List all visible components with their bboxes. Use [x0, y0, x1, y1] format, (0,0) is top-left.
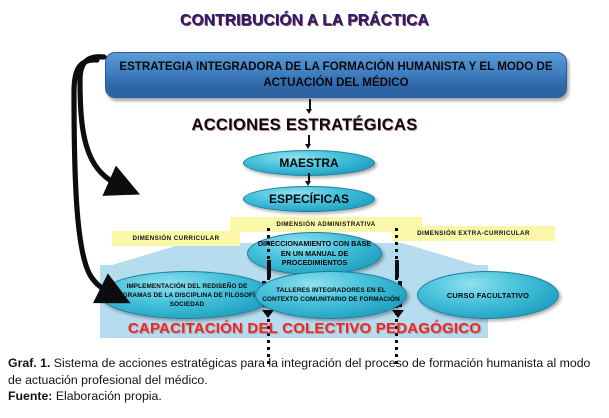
curved-arrow-lower — [74, 60, 112, 294]
caption-graf-text: Sistema de acciones estratégicas para la… — [8, 356, 590, 387]
node-direccionamiento-label: DIRECCIONAMIENTO CON BASE EN UN MANUAL D… — [253, 239, 375, 268]
arrow-mainbox-to-acciones — [305, 99, 314, 114]
node-talleres: TALLERES INTEGRADORES EN EL CONTEXTO COM… — [255, 271, 407, 319]
node-maestra-label: MAESTRA — [249, 156, 369, 170]
footer-banner: CAPACITACIÓN DEL COLECTIVO PEDAGÓGICO — [0, 320, 609, 337]
node-curso-facultativo: CURSO FACULTATIVO — [417, 271, 559, 319]
arrowhead-footer-left — [262, 310, 274, 318]
node-talleres-label: TALLERES INTEGRADORES EN EL CONTEXTO COM… — [262, 286, 400, 304]
caption-graf-label: Graf. 1. — [8, 356, 50, 370]
diagram-canvas: CONTRIBUCIÓN A LA PRÁCTICA ESTRATEGIA IN… — [0, 0, 609, 345]
main-strategy-box: ESTRATEGIA INTEGRADORA DE LA FORMACIÓN H… — [105, 52, 567, 98]
node-especificas: ESPECÍFICAS — [243, 186, 375, 212]
node-implementacion-label: IMPLEMENTACIÓN DEL REDISEÑO DE PROGRAMAS… — [108, 282, 266, 309]
section-heading-acciones: ACCIONES ESTRATÉGICAS — [0, 116, 609, 135]
caption-fuente-text: Elaboración propia. — [52, 389, 161, 403]
dimension-band-extra-curricular: DIMENSIÓN EXTRA-CURRICULAR — [392, 226, 555, 241]
arrowhead-footer-right — [392, 310, 404, 318]
main-strategy-label: ESTRATEGIA INTEGRADORA DE LA FORMACIÓN H… — [118, 59, 555, 91]
node-implementacion: IMPLEMENTACIÓN DEL REDISEÑO DE PROGRAMAS… — [100, 271, 274, 319]
dimension-curricular-label: DIMENSIÓN CURRICULAR — [112, 235, 240, 242]
page-title: CONTRIBUCIÓN A LA PRÁCTICA — [0, 12, 609, 30]
node-especificas-label: ESPECÍFICAS — [249, 192, 369, 206]
arrow-acciones-to-maestra — [304, 135, 313, 150]
dimension-band-curricular: DIMENSIÓN CURRICULAR — [112, 231, 240, 246]
caption-fuente-label: Fuente: — [8, 389, 52, 403]
figure-caption: Graf. 1. Sistema de acciones estratégica… — [8, 355, 603, 405]
arrow-maestra-to-especificas — [304, 173, 313, 187]
dimension-extra-curricular-label: DIMENSIÓN EXTRA-CURRICULAR — [392, 230, 555, 237]
node-curso-label: CURSO FACULTATIVO — [424, 291, 553, 300]
